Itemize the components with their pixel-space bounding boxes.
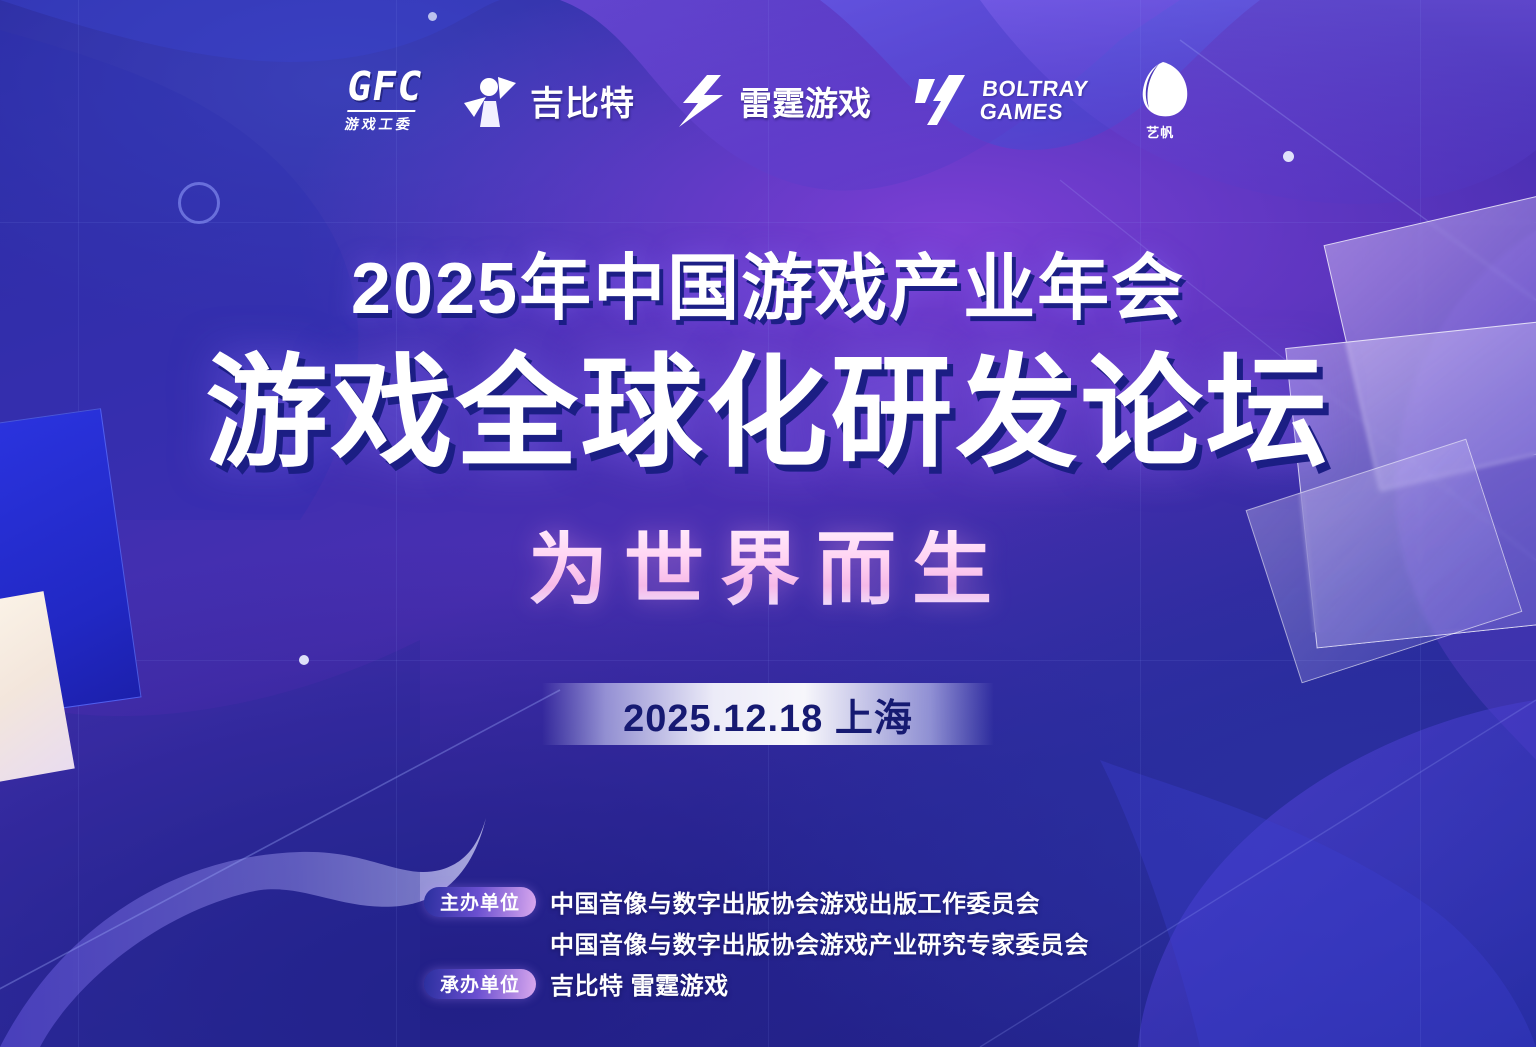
organizer-row: 主办单位 中国音像与数字出版协会游戏出版工作委员会 <box>424 884 1089 919</box>
gbit-mark-icon <box>462 73 520 129</box>
date-location-text: 2025.12.18 上海 <box>623 687 913 742</box>
logo-boltray: BOLTRAY GAMES <box>913 73 1087 129</box>
boltray-logo-text: BOLTRAY GAMES <box>979 78 1090 123</box>
event-subtitle: 2025年中国游戏产业年会 <box>0 253 1536 325</box>
gfc-logo-icon: GFC 游戏工委 <box>339 67 425 134</box>
gbit-logo-text: 吉比特 <box>530 76 635 125</box>
yifan-logo-text: 艺帆 <box>1146 122 1174 141</box>
boltray-line2: GAMES <box>979 101 1088 124</box>
event-poster: GFC 游戏工委 吉比特 雷霆游戏 BO <box>0 0 1536 1047</box>
organizer-row: 承办单位 吉比特 雷霆游戏 <box>424 966 1089 1001</box>
organizer-name: 中国音像与数字出版协会游戏出版工作委员会 <box>550 884 1040 919</box>
page-title: 游戏全球化研发论坛 <box>0 352 1536 474</box>
logo-leiting: 雷霆游戏 <box>677 73 871 129</box>
dot-decoration <box>428 12 437 21</box>
organizer-name: 中国音像与数字出版协会游戏产业研究专家委员会 <box>550 925 1089 960</box>
dot-decoration <box>1283 151 1294 162</box>
lightning-bolt-icon <box>677 73 729 129</box>
gfc-logo-text: GFC <box>344 67 426 107</box>
date-location-bar: 2025.12.18 上海 <box>542 683 994 745</box>
gfc-logo-subtext: 游戏工委 <box>343 110 415 134</box>
circle-outline-decoration <box>178 182 220 224</box>
grid-line-vertical <box>396 0 397 1047</box>
logo-gfc: GFC 游戏工委 <box>345 67 420 134</box>
logo-gbit: 吉比特 <box>462 73 635 129</box>
pixel-slogan: 为世界而生 <box>0 530 1536 610</box>
status-badge: 主办单位 <box>424 887 536 917</box>
organizer-name: 吉比特 雷霆游戏 <box>550 966 729 1001</box>
organizer-row: 中国音像与数字出版协会游戏产业研究专家委员会 <box>424 925 1089 960</box>
status-badge: 承办单位 <box>424 969 536 999</box>
leiting-logo-text: 雷霆游戏 <box>739 77 871 125</box>
grid-line-vertical <box>1140 0 1141 1047</box>
logo-yifan: 艺帆 <box>1129 60 1191 141</box>
boltray-mark-icon <box>913 73 971 129</box>
sail-moon-icon <box>1129 60 1191 120</box>
boltray-line1: BOLTRAY <box>981 78 1090 101</box>
grid-line-horizontal <box>0 222 1536 223</box>
sponsor-logo-row: GFC 游戏工委 吉比特 雷霆游戏 BO <box>0 60 1536 141</box>
organizer-block: 主办单位 中国音像与数字出版协会游戏出版工作委员会 中国音像与数字出版协会游戏产… <box>424 884 1089 1001</box>
dot-decoration <box>299 655 309 665</box>
